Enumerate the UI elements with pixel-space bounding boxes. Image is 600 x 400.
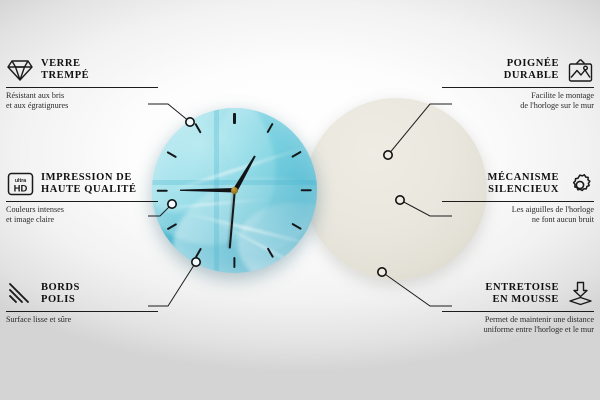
callout-group: VERRE TREMPÉ Résistant aux bris et aux é…: [0, 0, 600, 400]
callout-impression-haute-qualite[interactable]: ultra HD IMPRESSION DE HAUTE QUALITÉ Cou…: [6, 170, 158, 225]
callout-divider: [442, 87, 594, 88]
callout-description: Résistant aux bris et aux égratignures: [6, 91, 158, 111]
callout-header: VERRE TREMPÉ: [6, 56, 158, 84]
callout-divider: [442, 201, 594, 202]
callout-title: ENTRETOISE EN MOUSSE: [485, 282, 559, 307]
callout-header: ultra HD IMPRESSION DE HAUTE QUALITÉ: [6, 170, 158, 198]
callout-title: POIGNÉE DURABLE: [504, 58, 559, 83]
diamond-icon: [6, 56, 34, 84]
callout-header: MÉCANISME SILENCIEUX: [442, 170, 594, 198]
callout-description: Couleurs intenses et image claire: [6, 205, 158, 225]
callout-title: BORDS POLIS: [41, 282, 80, 307]
callout-header: POIGNÉE DURABLE: [442, 56, 594, 84]
foam-spacer-icon: [566, 280, 594, 308]
infographic-stage: VERRE TREMPÉ Résistant aux bris et aux é…: [0, 0, 600, 400]
callout-divider: [442, 311, 594, 312]
callout-title: IMPRESSION DE HAUTE QUALITÉ: [41, 172, 137, 197]
callout-description: Surface lisse et sûre: [6, 315, 158, 325]
picture-hanger-icon: [566, 56, 594, 84]
callout-bords-polis[interactable]: BORDS POLIS Surface lisse et sûre: [6, 280, 158, 325]
callout-description: Facilite le montage de l'horloge sur le …: [442, 91, 594, 111]
callout-entretoise-en-mousse[interactable]: ENTRETOISE EN MOUSSE Permet de maintenir…: [442, 280, 594, 335]
callout-divider: [6, 87, 158, 88]
callout-divider: [6, 311, 158, 312]
svg-text:HD: HD: [13, 184, 27, 195]
callout-description: Permet de maintenir une distance uniform…: [442, 315, 594, 335]
ultra-hd-icon: ultra HD: [6, 170, 34, 198]
callout-header: BORDS POLIS: [6, 280, 158, 308]
callout-mecanisme-silencieux[interactable]: MÉCANISME SILENCIEUX Les aiguilles de l'…: [442, 170, 594, 225]
callout-title: VERRE TREMPÉ: [41, 58, 89, 83]
callout-description: Les aiguilles de l'horloge ne font aucun…: [442, 205, 594, 225]
polished-edge-icon: [6, 280, 34, 308]
callout-divider: [6, 201, 158, 202]
gear-icon: [566, 170, 594, 198]
callout-verre-trempe[interactable]: VERRE TREMPÉ Résistant aux bris et aux é…: [6, 56, 158, 111]
callout-poignee-durable[interactable]: POIGNÉE DURABLE Facilite le montage de l…: [442, 56, 594, 111]
callout-header: ENTRETOISE EN MOUSSE: [442, 280, 594, 308]
callout-title: MÉCANISME SILENCIEUX: [488, 172, 559, 197]
